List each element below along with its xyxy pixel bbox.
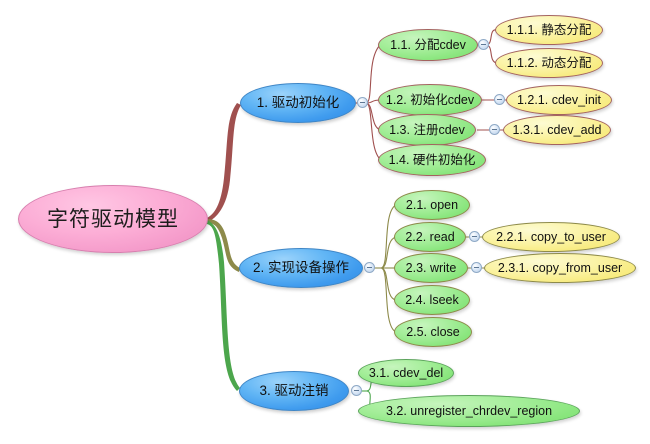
collapse-toggle-child-1-1[interactable] — [478, 39, 489, 50]
child-node-2-4[interactable]: 2.4. lseek — [394, 285, 470, 315]
grandchild-node-1-3-1[interactable]: 1.3.1. cdev_add — [503, 115, 611, 145]
child-node-3-1-label: 3.1. cdev_del — [367, 367, 445, 380]
root-node-label: 字符驱动模型 — [45, 209, 181, 230]
child-node-3-2-label: 3.2. unregister_chrdev_region — [384, 405, 554, 418]
child-node-2-3-label: 2.3. write — [404, 262, 459, 275]
branch-node-3-label: 3. 驱动注销 — [257, 384, 330, 398]
grandchild-node-1-2-1-label: 1.2.1. cdev_init — [515, 94, 603, 107]
child-node-1-2-label: 1.2. 初始化cdev — [384, 94, 476, 107]
child-node-2-3[interactable]: 2.3. write — [394, 253, 468, 283]
child-node-2-5-label: 2.5. close — [404, 326, 462, 339]
child-node-2-1-label: 2.1. open — [404, 199, 460, 212]
grandchild-node-1-3-1-label: 1.3.1. cdev_add — [511, 124, 604, 137]
child-node-1-1-label: 1.1. 分配cdev — [388, 39, 468, 52]
edge-root-to-branch2 — [207, 219, 240, 272]
collapse-toggle-child-1-2[interactable] — [494, 94, 505, 105]
root-node[interactable]: 字符驱动模型 — [18, 185, 208, 253]
child-node-2-2[interactable]: 2.2. read — [394, 222, 466, 252]
child-node-1-4[interactable]: 1.4. 硬件初始化 — [378, 144, 486, 176]
grandchild-node-2-3-1-label: 2.3.1. copy_from_user — [496, 262, 624, 275]
collapse-toggle-branch-1[interactable] — [357, 97, 368, 108]
edge-root-to-branch3 — [207, 220, 240, 391]
branch-node-1[interactable]: 1. 驱动初始化 — [240, 83, 356, 123]
child-node-2-2-label: 2.2. read — [403, 231, 456, 244]
child-node-2-4-label: 2.4. lseek — [403, 294, 461, 307]
child-node-3-2[interactable]: 3.2. unregister_chrdev_region — [358, 395, 580, 427]
branch-node-2[interactable]: 2. 实现设备操作 — [239, 248, 363, 288]
collapse-toggle-branch-3[interactable] — [351, 385, 362, 396]
edge-root-to-branch1 — [207, 103, 241, 222]
child-node-2-5[interactable]: 2.5. close — [394, 317, 472, 347]
grandchild-node-1-1-2-label: 1.1.2. 动态分配 — [505, 57, 594, 70]
grandchild-node-1-1-1-label: 1.1.1. 静态分配 — [505, 24, 594, 37]
grandchild-node-1-2-1[interactable]: 1.2.1. cdev_init — [506, 85, 612, 115]
child-node-1-3[interactable]: 1.3. 注册cdev — [378, 114, 476, 146]
child-node-1-1[interactable]: 1.1. 分配cdev — [378, 29, 478, 61]
mindmap-canvas: 字符驱动模型 1. 驱动初始化 2. 实现设备操作 3. 驱动注销 1.1. 分… — [0, 0, 650, 444]
child-node-1-2[interactable]: 1.2. 初始化cdev — [378, 84, 482, 116]
grandchild-node-1-1-1[interactable]: 1.1.1. 静态分配 — [495, 15, 603, 45]
branch-node-2-label: 2. 实现设备操作 — [251, 261, 351, 275]
collapse-toggle-child-2-2[interactable] — [469, 231, 480, 242]
branch-node-3[interactable]: 3. 驱动注销 — [239, 371, 349, 411]
collapse-toggle-child-1-3[interactable] — [489, 124, 500, 135]
grandchild-node-2-2-1-label: 2.2.1. copy_to_user — [494, 231, 608, 244]
grandchild-node-2-2-1[interactable]: 2.2.1. copy_to_user — [482, 222, 620, 252]
child-node-2-1[interactable]: 2.1. open — [394, 190, 470, 220]
collapse-toggle-child-2-3[interactable] — [471, 262, 482, 273]
branch-node-1-label: 1. 驱动初始化 — [255, 96, 342, 110]
child-node-1-3-label: 1.3. 注册cdev — [387, 124, 467, 137]
collapse-toggle-branch-2[interactable] — [364, 262, 375, 273]
child-node-1-4-label: 1.4. 硬件初始化 — [387, 154, 478, 167]
grandchild-node-1-1-2[interactable]: 1.1.2. 动态分配 — [495, 48, 603, 78]
child-node-3-1[interactable]: 3.1. cdev_del — [358, 359, 454, 387]
grandchild-node-2-3-1[interactable]: 2.3.1. copy_from_user — [484, 253, 636, 283]
